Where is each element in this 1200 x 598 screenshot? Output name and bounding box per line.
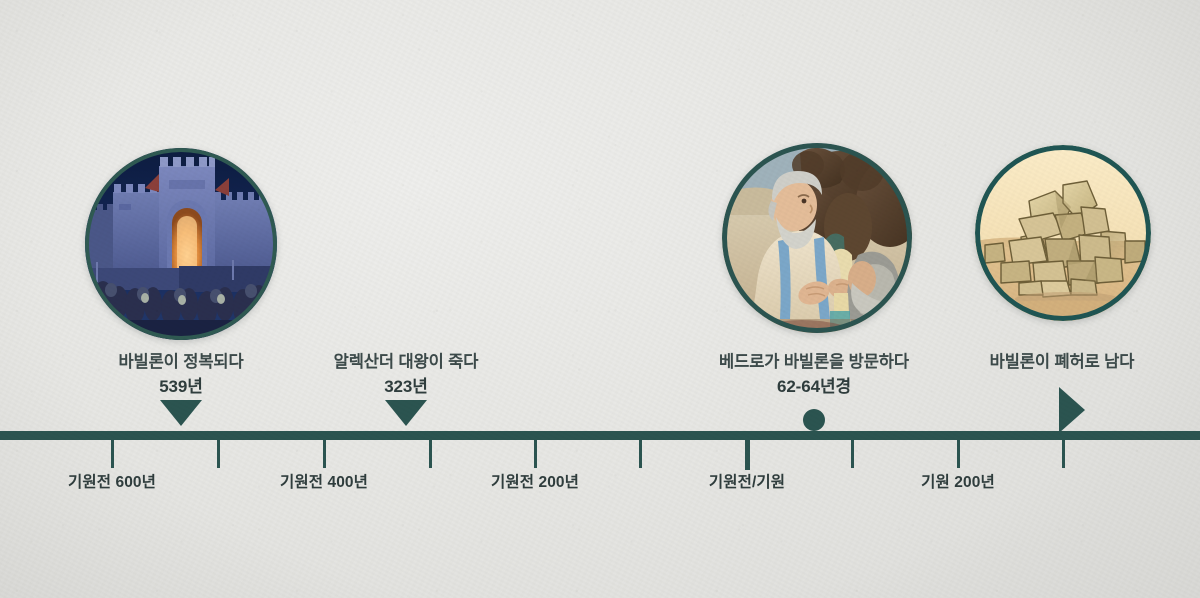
axis-tick: [111, 440, 114, 468]
event-marker-dot-icon: [803, 409, 825, 431]
stone-ruins-illustration: [975, 145, 1151, 321]
axis-tick: [323, 440, 326, 468]
event-date: 323년: [384, 372, 428, 397]
axis-tick: [639, 440, 642, 468]
axis-tick: [429, 440, 432, 468]
axis-tick: [217, 440, 220, 468]
axis-tick-label: 기원 200년: [921, 470, 995, 492]
event-image-babylon-ruins: [975, 145, 1151, 321]
event-marker-triangle-down-icon: [160, 400, 202, 426]
axis-tick: [851, 440, 854, 468]
timeline-infographic: 바빌론이 정복되다 539년 알렉산더 대왕이 죽다 323년 베드로가 바빌론…: [0, 0, 1200, 598]
axis-tick: [745, 440, 750, 470]
timeline-axis: [0, 431, 1200, 440]
axis-tick: [957, 440, 960, 468]
axis-tick-label: 기원전/기원: [709, 470, 785, 492]
babylon-gate-night-illustration: [85, 148, 277, 340]
axis-tick: [534, 440, 537, 468]
axis-tick-label: 기원전 600년: [68, 470, 156, 492]
axis-tick: [1062, 440, 1065, 468]
event-title: 베드로가 바빌론을 방문하다: [719, 348, 909, 372]
peter-preaching-illustration: [722, 143, 912, 333]
axis-tick-label: 기원전 400년: [280, 470, 368, 492]
event-marker-triangle-down-icon: [385, 400, 427, 426]
event-image-peter-preaching: [722, 143, 912, 333]
event-title: 바빌론이 폐허로 남다: [990, 348, 1135, 372]
axis-tick-label: 기원전 200년: [491, 470, 579, 492]
event-date: 62-64년경: [777, 372, 851, 397]
event-date: 539년: [159, 372, 203, 397]
event-marker-triangle-right-icon: [1059, 387, 1085, 433]
event-title: 알렉산더 대왕이 죽다: [334, 348, 479, 372]
event-title: 바빌론이 정복되다: [118, 348, 243, 372]
event-image-babylon-gate: [85, 148, 277, 340]
